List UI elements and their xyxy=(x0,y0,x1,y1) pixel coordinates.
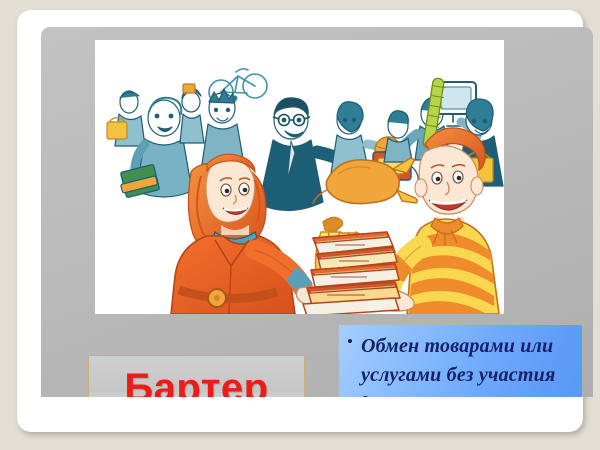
slide-frame: Бартер • Обмен товарами или услугами без… xyxy=(17,10,583,432)
definition-box: • Обмен товарами или услугами без участи… xyxy=(339,325,582,397)
definition-text: Обмен товарами или услугами без участия … xyxy=(361,332,576,397)
illustration-artwork xyxy=(95,40,504,314)
bullet-list-item: • Обмен товарами или услугами без участи… xyxy=(339,325,582,397)
bullet-point-icon: • xyxy=(347,332,361,352)
slide-body: Бартер • Обмен товарами или услугами без… xyxy=(41,27,593,397)
slide-title-box: Бартер xyxy=(88,355,305,397)
slide-canvas: Бартер • Обмен товарами или услугами без… xyxy=(0,0,600,450)
barter-illustration xyxy=(95,40,504,314)
page-title: Бартер xyxy=(124,368,268,398)
